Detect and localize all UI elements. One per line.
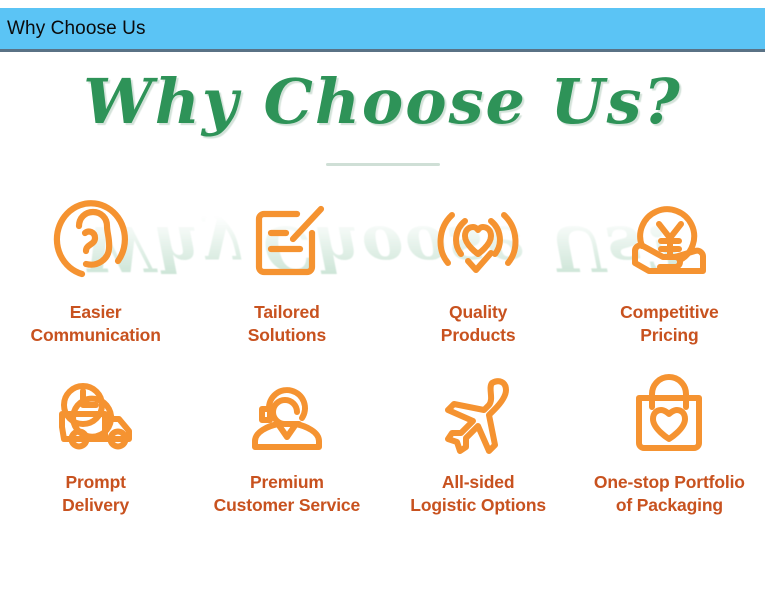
feature-label: Easier Communication (30, 301, 160, 347)
shopping-bag-heart-icon (623, 367, 715, 463)
window-header: Why Choose Us (0, 8, 765, 52)
document-pencil-icon (241, 191, 333, 291)
feature-item-premium-customer-service[interactable]: Premium Customer Service (191, 367, 382, 517)
delivery-truck-clock-icon (50, 367, 142, 463)
feature-row: Easier Communication Tailored Solutions (0, 191, 765, 347)
page-title: Why Choose Us? (0, 65, 765, 138)
ear-listening-icon (50, 191, 142, 291)
feature-label: Premium Customer Service (214, 471, 360, 517)
airplane-icon (432, 367, 524, 463)
feature-item-prompt-delivery[interactable]: Prompt Delivery (0, 367, 191, 517)
feature-item-all-sided-logistic-options[interactable]: All-sided Logistic Options (383, 367, 574, 517)
feature-label: One-stop Portfolio of Packaging (594, 471, 745, 517)
feature-label: Competitive Pricing (620, 301, 719, 347)
feature-label: Prompt Delivery (62, 471, 129, 517)
heart-check-signal-icon (432, 191, 524, 291)
feature-item-competitive-pricing[interactable]: Competitive Pricing (574, 191, 765, 347)
feature-item-quality-products[interactable]: Quality Products (383, 191, 574, 347)
feature-label: Quality Products (441, 301, 516, 347)
feature-item-easier-communication[interactable]: Easier Communication (0, 191, 191, 347)
feature-label: Tailored Solutions (248, 301, 326, 347)
feature-grid: Easier Communication Tailored Solutions (0, 191, 765, 517)
feature-row: Prompt Delivery Premium Customer Service (0, 367, 765, 517)
window-title: Why Choose Us (0, 19, 146, 38)
feature-item-one-stop-portfolio-of-packaging[interactable]: One-stop Portfolio of Packaging (574, 367, 765, 517)
feature-item-tailored-solutions[interactable]: Tailored Solutions (191, 191, 382, 347)
hero-banner: Why Choose Us? Why Choose Us? (0, 61, 765, 169)
page-content: Why Choose Us? Why Choose Us? Easier Com… (0, 55, 765, 599)
headset-agent-icon (241, 367, 333, 463)
hand-holding-yen-coin-icon (623, 191, 715, 291)
feature-label: All-sided Logistic Options (410, 471, 546, 517)
hero-divider (326, 163, 440, 166)
